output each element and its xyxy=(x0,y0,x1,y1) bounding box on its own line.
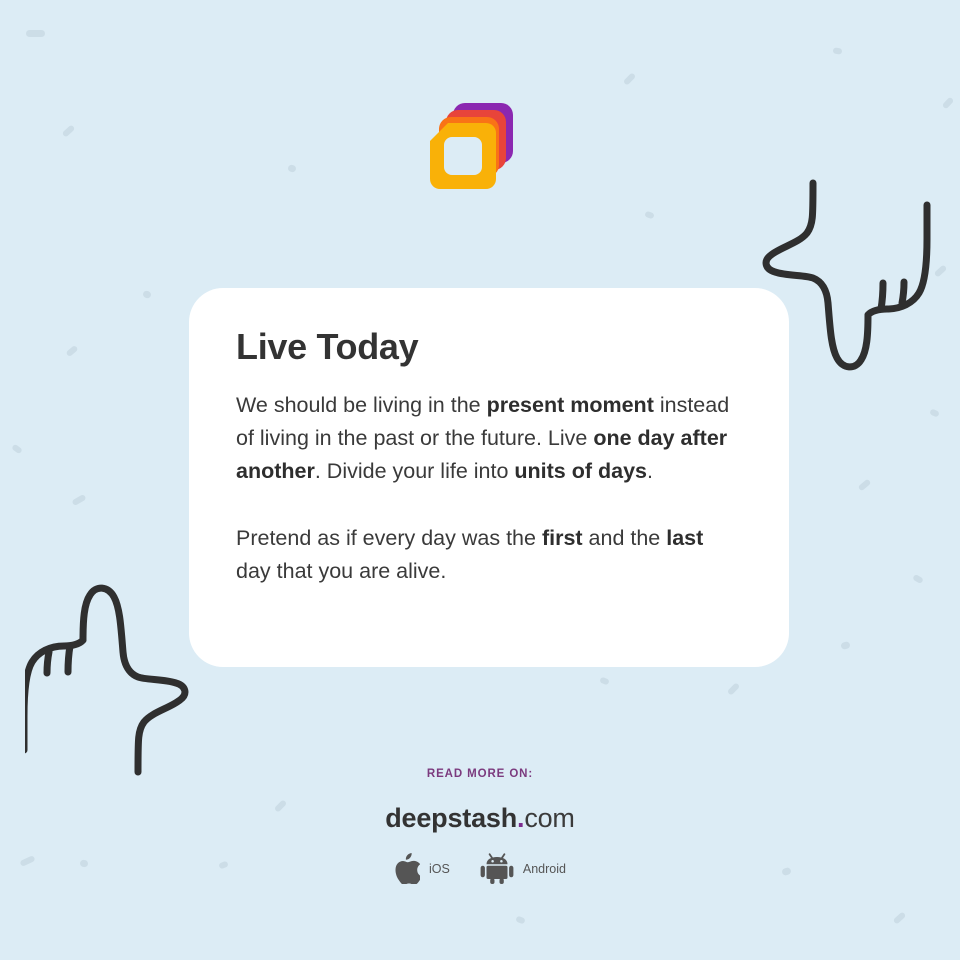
confetti-speck xyxy=(727,682,740,695)
confetti-speck xyxy=(912,574,924,584)
confetti-speck xyxy=(942,97,955,110)
deepstash-wordmark[interactable]: deepstash.com xyxy=(0,803,960,834)
card-paragraph-1: We should be living in the present momen… xyxy=(236,389,741,488)
wordmark-tld: com xyxy=(524,803,574,833)
confetti-speck xyxy=(287,164,297,173)
apple-icon xyxy=(394,853,420,884)
confetti-speck xyxy=(934,264,948,277)
confetti-speck xyxy=(62,124,76,137)
android-store-badge[interactable]: Android xyxy=(480,853,566,884)
confetti-speck xyxy=(644,211,654,219)
ios-store-badge[interactable]: iOS xyxy=(394,853,450,884)
poster-canvas: Live Today We should be living in the pr… xyxy=(0,0,960,960)
confetti-speck xyxy=(11,444,23,455)
confetti-speck xyxy=(71,494,86,506)
footer: READ MORE ON: deepstash.com iOS xyxy=(0,768,960,884)
card-paragraph-2: Pretend as if every day was the first an… xyxy=(236,522,741,588)
confetti-speck xyxy=(929,408,940,417)
card-title: Live Today xyxy=(236,326,741,367)
confetti-speck xyxy=(26,30,45,37)
deepstash-logo xyxy=(425,103,520,198)
hand-pointing-up-doodle xyxy=(25,565,215,780)
store-badges: iOS xyxy=(0,853,960,884)
confetti-speck xyxy=(599,677,610,686)
confetti-speck xyxy=(840,641,851,650)
confetti-speck xyxy=(142,290,152,299)
logo-inner-cutout xyxy=(444,137,482,175)
read-more-label: READ MORE ON: xyxy=(0,768,960,780)
ios-store-label: iOS xyxy=(429,862,450,876)
android-store-label: Android xyxy=(523,862,566,876)
confetti-speck xyxy=(858,479,872,492)
confetti-speck xyxy=(833,47,843,54)
android-icon xyxy=(480,853,514,884)
confetti-speck xyxy=(893,911,907,924)
confetti-speck xyxy=(515,916,526,925)
idea-card: Live Today We should be living in the pr… xyxy=(189,288,789,667)
confetti-speck xyxy=(65,345,78,357)
confetti-speck xyxy=(623,72,636,85)
wordmark-name: deepstash xyxy=(385,803,517,833)
